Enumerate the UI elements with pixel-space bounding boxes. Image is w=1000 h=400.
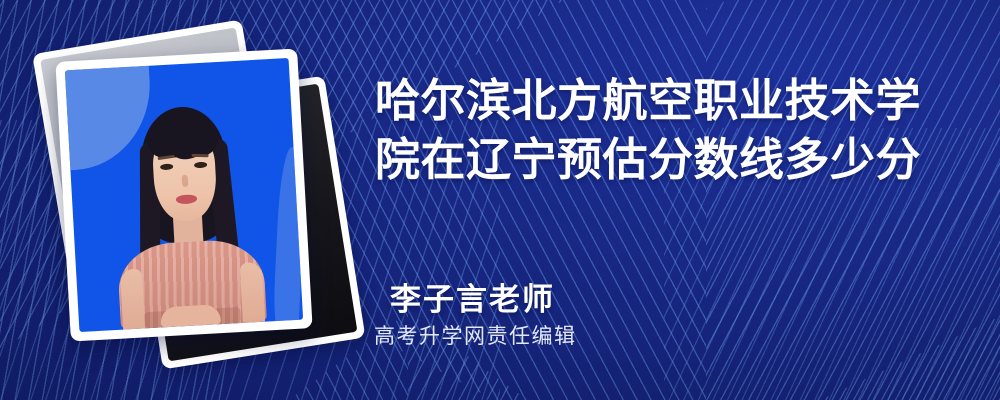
photo-card-stack bbox=[45, 35, 345, 365]
banner-text-block: 哈尔滨北方航空职业技术学院在辽宁预估分数线多少分 李子言老师 高考升学网责任编辑 bbox=[372, 0, 972, 400]
portrait-hair-fringe bbox=[145, 115, 219, 159]
portrait-figure bbox=[93, 96, 281, 330]
portrait-eyebrow-right bbox=[192, 154, 209, 158]
photo-card-front bbox=[55, 48, 312, 341]
author-portrait-photo bbox=[65, 58, 303, 332]
article-cover-banner: 哈尔滨北方航空职业技术学院在辽宁预估分数线多少分 李子言老师 高考升学网责任编辑 bbox=[0, 0, 1000, 400]
banner-headline: 哈尔滨北方航空职业技术学院在辽宁预估分数线多少分 bbox=[375, 72, 955, 190]
portrait-arm-right bbox=[240, 262, 265, 323]
author-name: 李子言老师 bbox=[390, 274, 555, 319]
portrait-nose bbox=[182, 175, 189, 187]
portrait-hands bbox=[160, 304, 221, 327]
author-role: 高考升学网责任编辑 bbox=[374, 320, 577, 350]
portrait-arm-left bbox=[120, 268, 145, 329]
